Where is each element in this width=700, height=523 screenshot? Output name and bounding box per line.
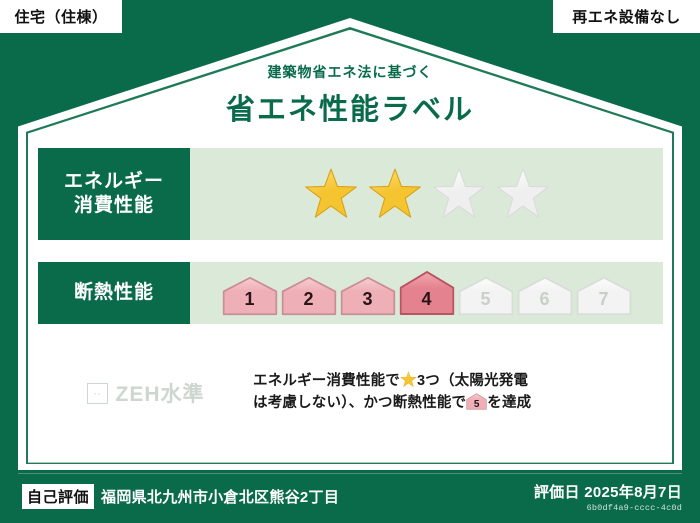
star-4-empty <box>495 167 551 221</box>
footer-right-group: 評価日 2025年8月7日 6b0df4a9-cccc-4c0d <box>534 481 682 513</box>
page-title: 省エネ性能ラベル <box>0 86 700 128</box>
insulation-performance-row: 断熱性能 1234567 <box>38 262 663 324</box>
insulation-level-6: 6 <box>517 276 573 316</box>
insulation-level-4: 4 <box>399 270 455 316</box>
star-1-filled <box>303 167 359 221</box>
title-block: 建築物省エネ法に基づく 省エネ性能ラベル <box>0 62 700 128</box>
zeh-desc-part1: エネルギー消費性能で <box>253 373 400 389</box>
footer-divider <box>18 473 682 474</box>
insulation-performance-label: 断熱性能 <box>38 262 190 324</box>
insulation-level-2: 2 <box>281 276 337 316</box>
insulation-label-text: 断熱性能 <box>74 281 154 305</box>
renewable-equipment-badge: 再エネ設備なし <box>553 0 700 33</box>
insulation-level-1: 1 <box>222 276 278 316</box>
insulation-performance-body: 1234567 <box>190 262 663 324</box>
energy-performance-label: 住宅（住棟） 再エネ設備なし 建築物省エネ法に基づく 省エネ性能ラベル エネルギ… <box>0 0 700 523</box>
energy-label-line1: エネルギー <box>64 170 164 194</box>
document-hash: 6b0df4a9-cccc-4c0d <box>534 503 682 513</box>
checkbox-icon: ·· <box>87 383 108 404</box>
zeh-desc-star-count: 3つ（太陽光発電 <box>417 373 528 389</box>
inline-house-level: 5 <box>466 400 487 410</box>
zeh-description: エネルギー消費性能で3つ（太陽光発電は考慮しない）、かつ断熱性能で5を達成 <box>253 371 663 415</box>
star-rating <box>303 167 551 221</box>
title-subtitle: 建築物省エネ法に基づく <box>0 62 700 82</box>
zeh-badge: ·· ZEH水準 <box>38 378 253 408</box>
inline-house-icon: 5 <box>466 393 487 410</box>
self-evaluation-badge: 自己評価 <box>22 484 94 509</box>
insulation-level-7: 7 <box>576 276 632 316</box>
zeh-desc-part3: を達成 <box>487 395 531 411</box>
evaluation-date: 評価日 2025年8月7日 <box>534 481 682 502</box>
insulation-level-5: 5 <box>458 276 514 316</box>
star-3-empty <box>431 167 487 221</box>
footer-left-group: 自己評価 福岡県北九州市小倉北区熊谷2丁目 <box>22 484 339 509</box>
zeh-standard-block: ·· ZEH水準 エネルギー消費性能で3つ（太陽光発電は考慮しない）、かつ断熱性… <box>38 363 663 423</box>
inline-star-icon <box>400 371 417 388</box>
energy-performance-label: エネルギー 消費性能 <box>38 148 190 240</box>
insulation-level-scale: 1234567 <box>222 270 632 316</box>
star-2-filled <box>367 167 423 221</box>
building-type-badge: 住宅（住棟） <box>0 0 122 33</box>
zeh-badge-label: ZEH水準 <box>116 378 205 408</box>
energy-performance-body <box>190 148 663 240</box>
energy-label-line2: 消費性能 <box>74 194 154 218</box>
footer-bar: 自己評価 福岡県北九州市小倉北区熊谷2丁目 評価日 2025年8月7日 6b0d… <box>0 473 700 523</box>
property-address: 福岡県北九州市小倉北区熊谷2丁目 <box>101 486 339 507</box>
energy-performance-row: エネルギー 消費性能 <box>38 148 663 240</box>
insulation-level-3: 3 <box>340 276 396 316</box>
zeh-desc-part2: は考慮しない）、かつ断熱性能で <box>253 395 466 411</box>
